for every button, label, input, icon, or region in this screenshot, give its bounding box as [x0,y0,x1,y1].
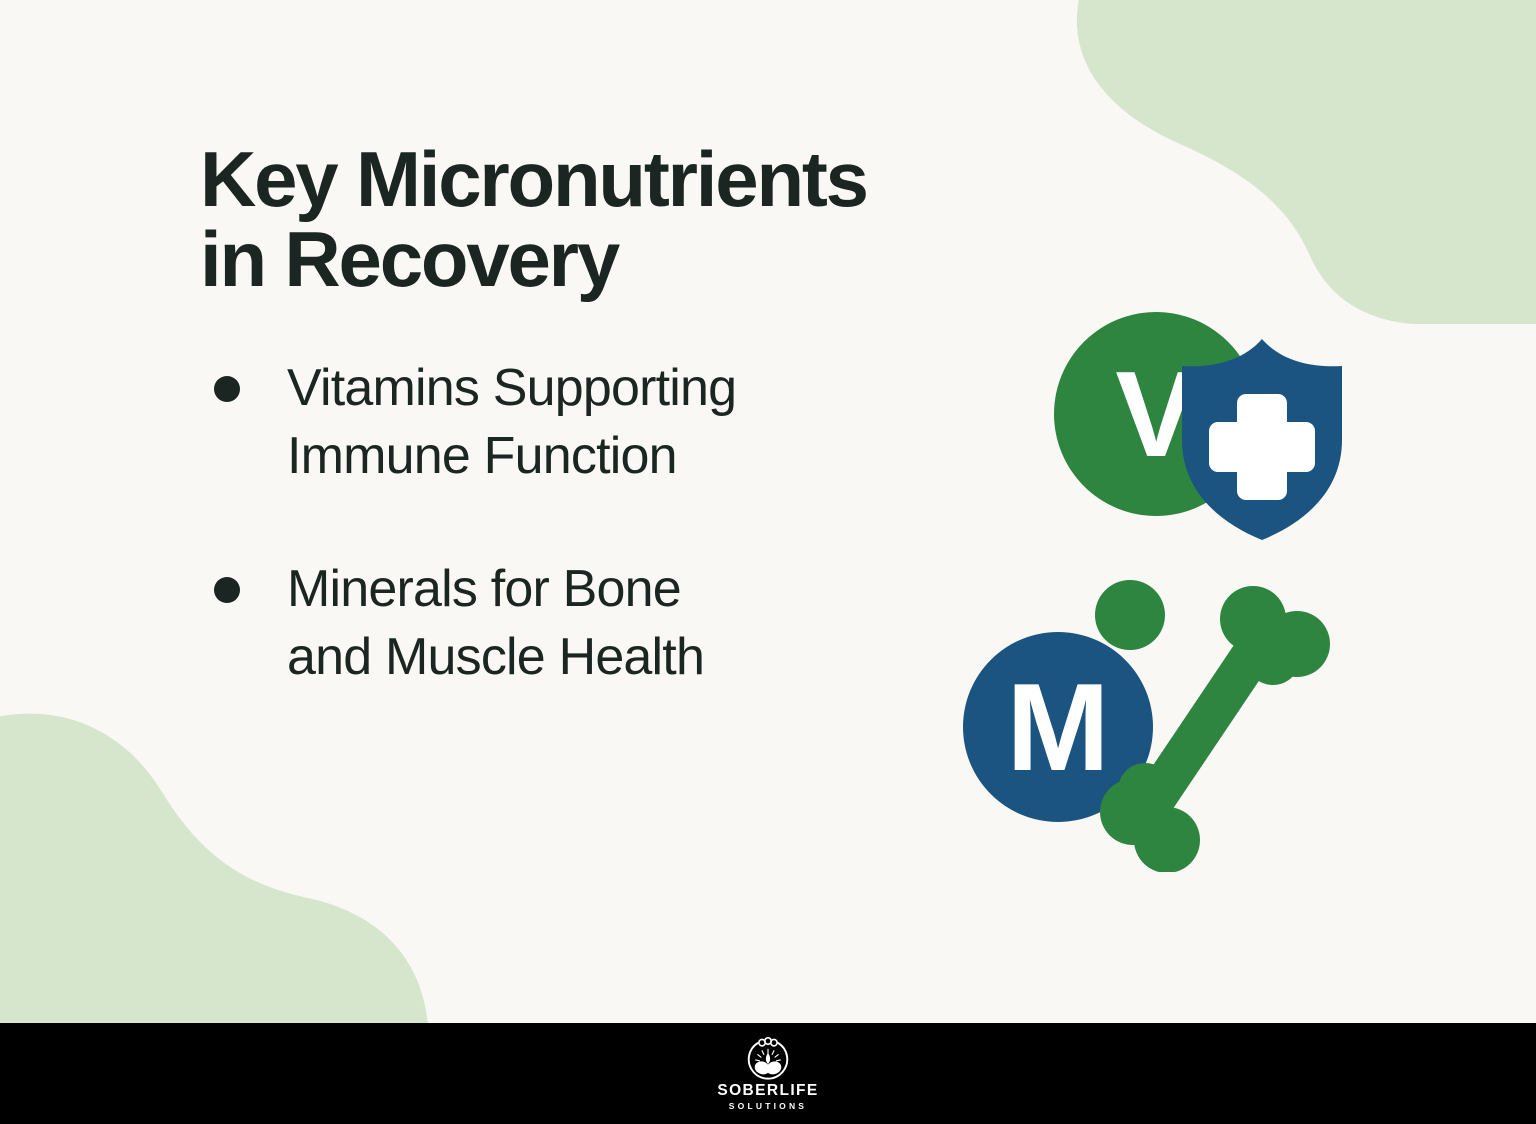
brand-logo: SOBERLIFE SOLUTIONS [717,1037,818,1110]
bullet-dot-icon [214,376,240,402]
hands-sunrise-emblem-icon [746,1037,790,1081]
footer-bar: SOBERLIFE SOLUTIONS [0,1023,1536,1124]
bullet-list: Vitamins Supporting Immune Function Mine… [214,355,954,757]
bullet-dot-icon [214,577,240,603]
accent-dot-icon [1095,580,1165,650]
brand-tagline: SOLUTIONS [729,1102,807,1111]
slide-canvas: Key Micronutrients in Recovery Vitamins … [0,0,1536,1124]
brand-name: SOBERLIFE [717,1083,818,1099]
bullet-text: Minerals for Bone and Muscle Health [287,556,704,691]
mineral-bone-icon: M [955,572,1355,872]
page-title: Key Micronutrients in Recovery [200,140,1140,299]
mineral-letter: M [1006,659,1109,797]
list-item: Vitamins Supporting Immune Function [214,355,954,490]
list-item: Minerals for Bone and Muscle Health [214,556,954,691]
vitamin-shield-icon: V [1048,300,1358,545]
bullet-text: Vitamins Supporting Immune Function [287,355,736,490]
